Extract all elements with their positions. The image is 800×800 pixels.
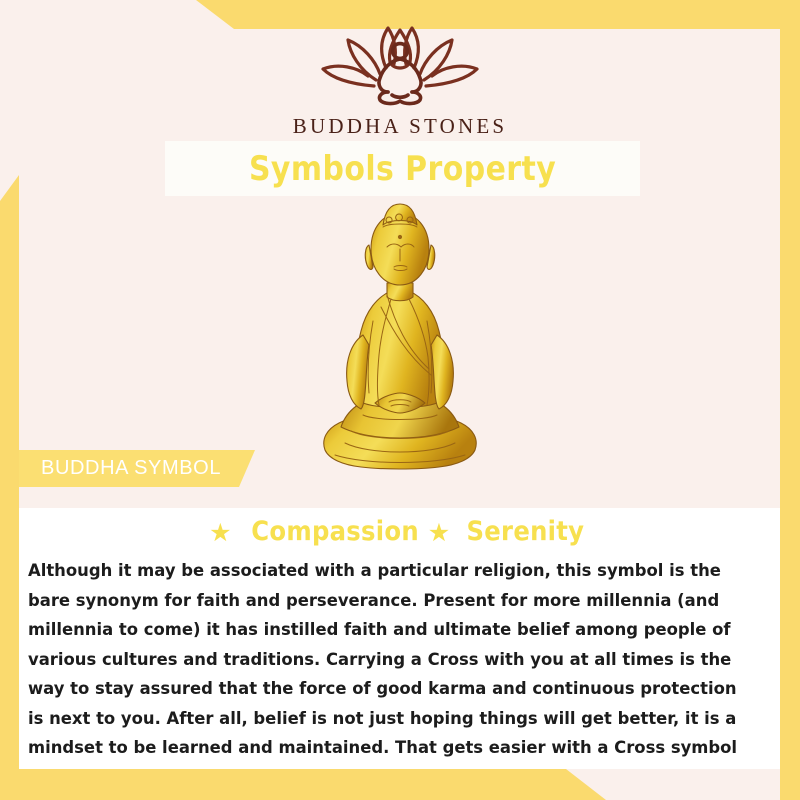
- section-subtitle: ★ Compassion★ Serenity: [19, 516, 781, 547]
- lotus-meditation-figure-icon: [310, 22, 490, 108]
- seated-golden-buddha-statue: [311, 203, 489, 491]
- page-title-band: Symbols Property: [165, 141, 640, 196]
- brand-wordmark: BUDDHA STONES: [0, 114, 800, 139]
- section-body-text: Although it may be associated with a par…: [28, 557, 739, 793]
- page-title: Symbols Property: [249, 149, 556, 189]
- star-icon-left: ★: [209, 518, 232, 547]
- subtitle-word-compassion: Compassion: [251, 516, 419, 547]
- star-icon-middle: ★: [428, 518, 451, 547]
- brand-logo-block: BUDDHA STONES: [0, 22, 800, 139]
- category-tag-label: BUDDHA SYMBOL: [19, 457, 221, 480]
- frame-accent-right: [780, 29, 800, 800]
- content-panel: ★ Compassion★ Serenity Although it may b…: [19, 508, 781, 769]
- frame-accent-left: [0, 175, 19, 800]
- poster-root: BUDDHA STONES Symbols Property: [0, 0, 800, 800]
- category-tag: BUDDHA SYMBOL: [19, 450, 255, 487]
- subtitle-word-serenity: Serenity: [467, 516, 585, 547]
